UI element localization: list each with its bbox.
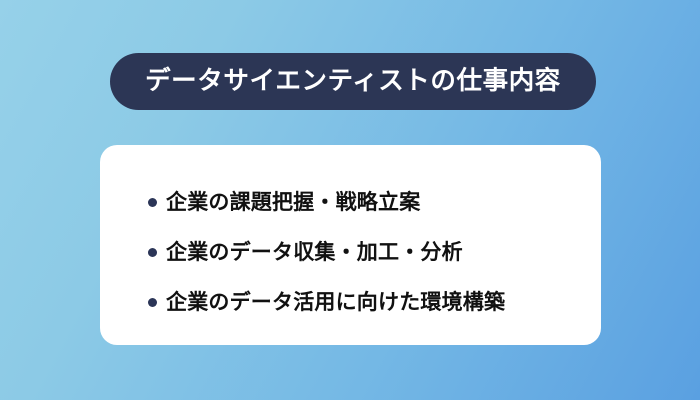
list-item: 企業のデータ収集・加工・分析	[148, 227, 577, 277]
list-item-label: 企業の課題把握・戦略立案	[166, 192, 420, 213]
bullet-dot-icon	[148, 248, 157, 257]
list-item: 企業の課題把握・戦略立案	[148, 177, 577, 227]
bullet-dot-icon	[148, 198, 157, 207]
bullet-dot-icon	[148, 298, 157, 307]
list-item-label: 企業のデータ収集・加工・分析	[166, 242, 463, 263]
list-item-label: 企業のデータ活用に向けた環境構築	[166, 292, 505, 313]
content-card: 企業の課題把握・戦略立案 企業のデータ収集・加工・分析 企業のデータ活用に向けた…	[100, 145, 601, 345]
bullet-list: 企業の課題把握・戦略立案 企業のデータ収集・加工・分析 企業のデータ活用に向けた…	[148, 177, 577, 327]
slide-canvas: データサイエンティストの仕事内容 企業の課題把握・戦略立案 企業のデータ収集・加…	[0, 0, 700, 400]
list-item: 企業のデータ活用に向けた環境構築	[148, 277, 577, 327]
title-banner: データサイエンティストの仕事内容	[110, 53, 596, 110]
page-title: データサイエンティストの仕事内容	[145, 69, 561, 95]
